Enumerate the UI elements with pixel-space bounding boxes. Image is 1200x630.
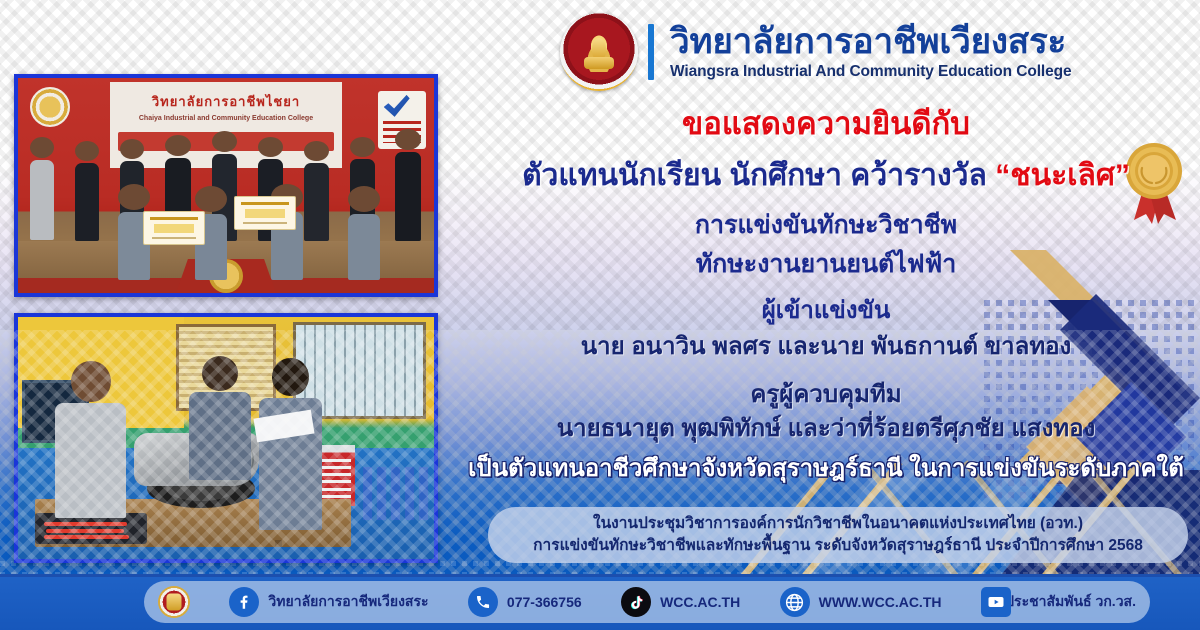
phone-icon[interactable] xyxy=(468,587,498,617)
skill-line: ทักษะงานยานยนต์ไฟฟ้า xyxy=(452,252,1200,277)
footer-contact-pill: วิทยาลัยการอาชีพเวียงสระ 077-366756 xyxy=(144,581,1150,623)
photo-seal-icon xyxy=(30,87,70,127)
region-line: เป็นตัวแทนอาชีวศึกษาจังหวัดสุราษฎร์ธานี … xyxy=(452,457,1200,481)
event-detail-line-1: ในงานประชุมวิชาการองค์การนักวิชาชีพในอนา… xyxy=(593,513,1083,535)
entrants-heading: ผู้เข้าแข่งขัน xyxy=(452,299,1200,323)
footer-label-tiktok[interactable]: WCC.AC.TH xyxy=(660,594,740,610)
poster-canvas: วิทยาลัยการอาชีพเวียงสระ Wiangsra Indust… xyxy=(0,0,1200,630)
main-text-block: ขอแสดงความยินดีกับ ตัวแทนนักเรียน นักศึก… xyxy=(452,104,1200,481)
footer-item-phone[interactable]: 077-366756 xyxy=(468,587,582,617)
student-figure-2 xyxy=(259,358,321,532)
header: วิทยาลัยการอาชีพเวียงสระ Wiangsra Indust… xyxy=(560,6,1200,98)
facebook-icon[interactable] xyxy=(229,587,259,617)
representative-prefix: ตัวแทนนักเรียน นักศึกษา คว้ารางวัล xyxy=(522,159,995,192)
event-detail-line-2: การแข่งขันทักษะวิชาชีพและทักษะพื้นฐาน ระ… xyxy=(533,535,1143,557)
congratulations-line: ขอแสดงความยินดีกับ xyxy=(452,108,1200,139)
header-title-th: วิทยาลัยการอาชีพเวียงสระ xyxy=(670,23,1072,61)
footer-label-website[interactable]: WWW.WCC.AC.TH xyxy=(819,594,942,610)
footer-label-facebook[interactable]: วิทยาลัยการอาชีพเวียงสระ xyxy=(268,591,428,613)
header-divider xyxy=(648,24,654,80)
event-details-pill: ในงานประชุมวิชาการองค์การนักวิชาชีพในอนา… xyxy=(488,507,1188,563)
photo-backdrop-title-th: วิทยาลัยการอาชีพไชยา xyxy=(118,91,334,112)
globe-icon[interactable] xyxy=(780,587,810,617)
student-figure-1 xyxy=(189,356,251,482)
footer-item-website[interactable]: WWW.WCC.AC.TH xyxy=(780,587,942,617)
competition-line: การแข่งขันทักษะวิชาชีพ xyxy=(452,213,1200,238)
entrants-names: นาย อนาวิน พลศร และนาย พันธกานต์ ขาลทอง xyxy=(452,335,1200,359)
certificate-left xyxy=(143,211,205,245)
photo-backdrop-title-en: Chaiya Industrial and Community Educatio… xyxy=(110,115,343,122)
tiktok-icon[interactable] xyxy=(621,587,651,617)
college-seal-icon xyxy=(560,13,638,91)
instructor-figure xyxy=(55,361,126,521)
footer-item-facebook[interactable]: วิทยาลัยการอาชีพเวียงสระ xyxy=(229,587,428,617)
certificate-right xyxy=(234,196,296,230)
footer-bar: วิทยาลัยการอาชีพเวียงสระ 077-366756 xyxy=(0,574,1200,630)
ev-workshop-photo xyxy=(14,313,438,563)
coach-heading: ครูผู้ควบคุมทีม xyxy=(452,383,1200,407)
coach-names: นายธนายุต พุฒพิทักษ์ และว่าที่ร้อยตรีศุภ… xyxy=(452,417,1200,441)
header-title-en: Wiangsra Industrial And Community Educat… xyxy=(670,63,1072,82)
award-ceremony-photo: วิทยาลัยการอาชีพไชยา Chaiya Industrial a… xyxy=(14,74,438,297)
representative-line: ตัวแทนนักเรียน นักศึกษา คว้ารางวัล “ชนะเ… xyxy=(452,161,1200,191)
footer-college-seal-icon xyxy=(158,586,190,618)
award-quote: “ชนะเลิศ” xyxy=(995,159,1130,192)
footer-item-tiktok[interactable]: WCC.AC.TH xyxy=(621,587,740,617)
footer-label-phone[interactable]: 077-366756 xyxy=(507,594,582,610)
footer-item-youtube[interactable]: งานประชาสัมพันธ์ วก.วส. xyxy=(981,591,1136,613)
header-text: วิทยาลัยการอาชีพเวียงสระ Wiangsra Indust… xyxy=(670,23,1072,81)
chairs-background xyxy=(363,467,430,520)
footer-label-youtube[interactable]: งานประชาสัมพันธ์ วก.วส. xyxy=(981,591,1136,613)
